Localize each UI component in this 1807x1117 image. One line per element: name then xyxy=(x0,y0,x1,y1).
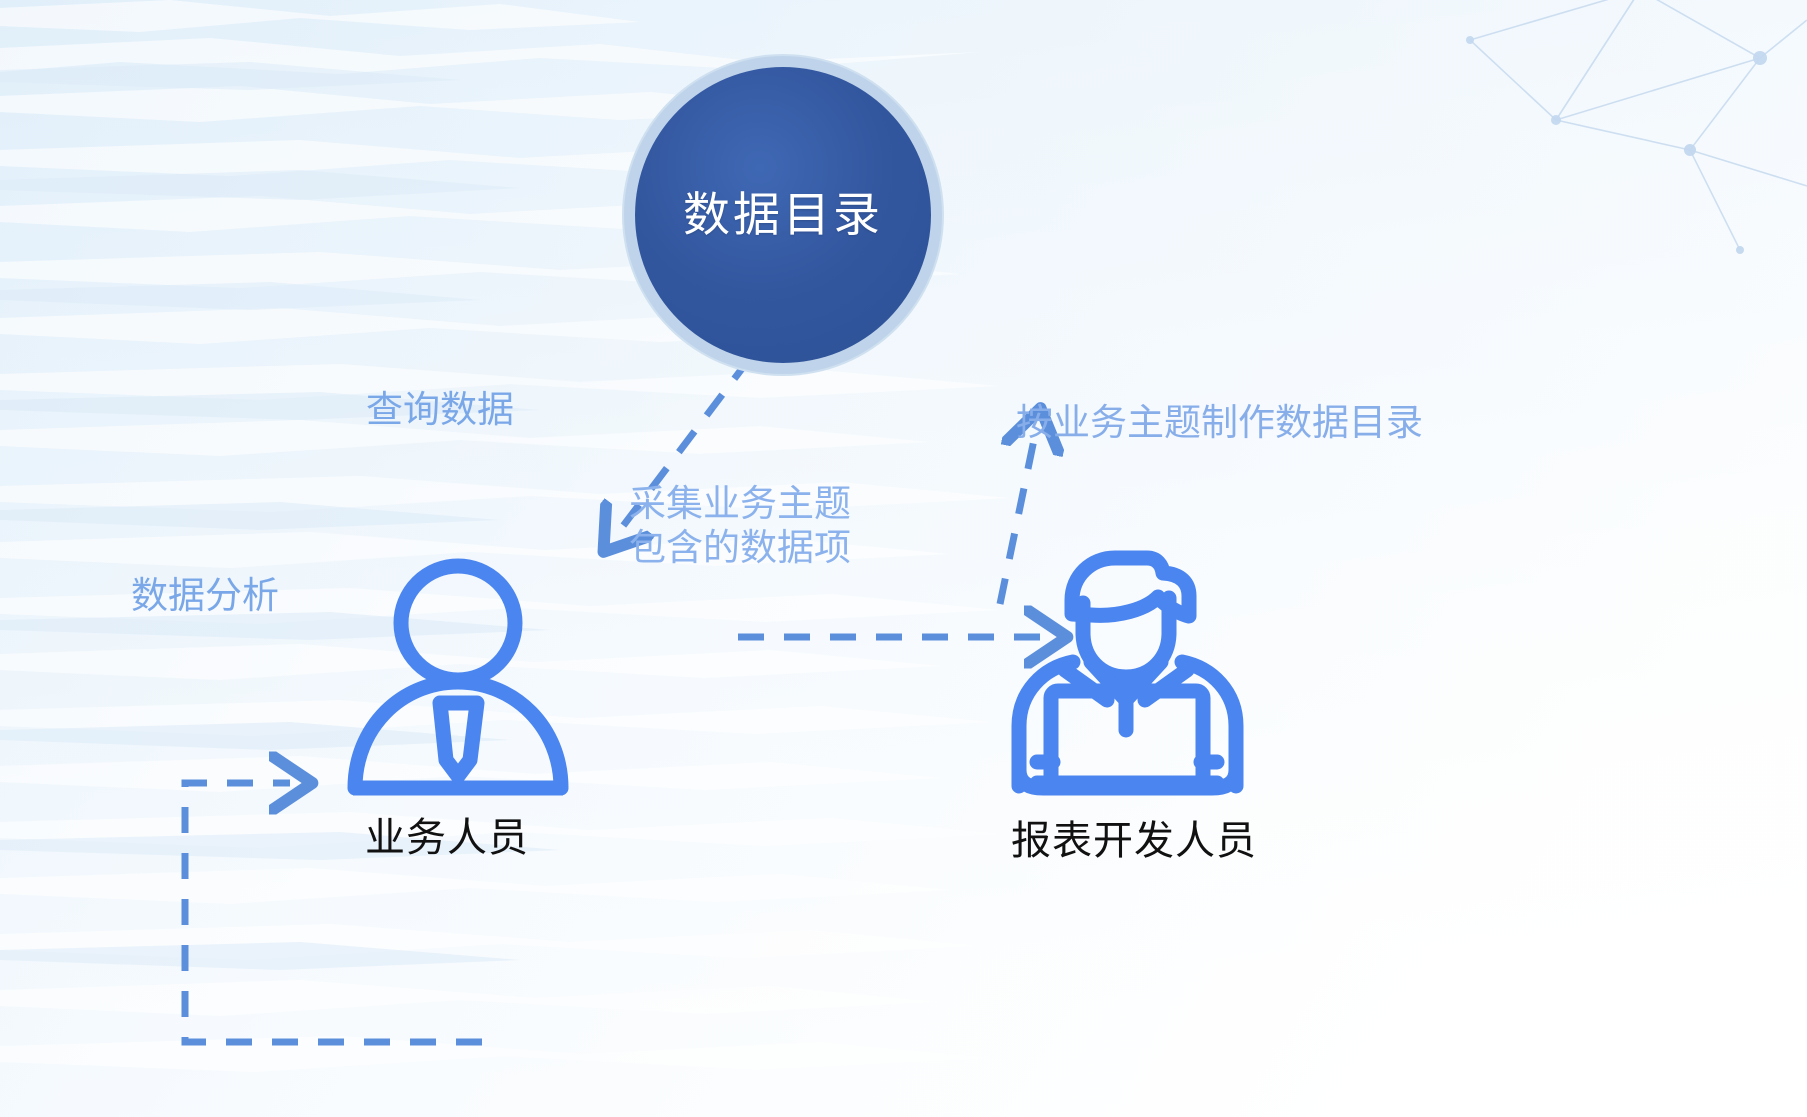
actor-business-user[interactable] xyxy=(340,555,580,790)
node-data-catalog[interactable]: 数据目录 xyxy=(635,67,931,363)
edge-label-query-data: 查询数据 xyxy=(366,388,514,432)
edge-label-collect-items: 采集业务主题 包含的数据项 xyxy=(629,482,851,569)
node-data-catalog-label: 数据目录 xyxy=(683,192,883,239)
actor-report-developer-label: 报表开发人员 xyxy=(1011,808,1257,866)
diagram-canvas: 数据目录 查询数据 按业务主题制作数据目录 采集业务主题 包含的数据项 数据分析… xyxy=(0,0,1807,1117)
person-laptop-icon xyxy=(995,540,1260,790)
actor-business-user-label: 业务人员 xyxy=(365,805,529,863)
edge-label-build-catalog: 按业务主题制作数据目录 xyxy=(1016,401,1423,445)
actor-report-developer[interactable] xyxy=(995,540,1260,790)
edge-label-collect-items-line2: 包含的数据项 xyxy=(629,526,851,570)
person-tie-icon xyxy=(340,555,580,790)
edge-label-collect-items-line1: 采集业务主题 xyxy=(629,482,851,526)
edge-label-data-analysis: 数据分析 xyxy=(131,574,279,618)
